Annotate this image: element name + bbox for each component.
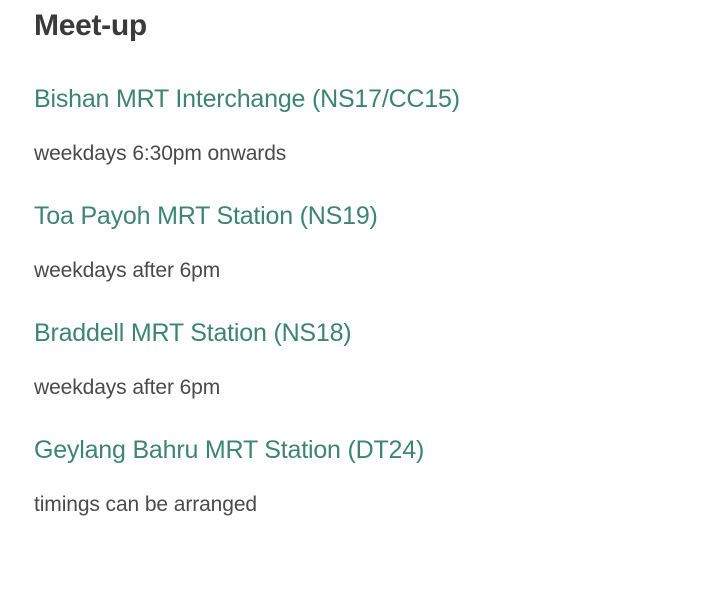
venue-timing: weekdays 6:30pm onwards — [34, 141, 675, 167]
venue-name-link[interactable]: Braddell MRT Station (NS18) — [34, 317, 675, 349]
venue-name-link[interactable]: Bishan MRT Interchange (NS17/CC15) — [34, 83, 675, 115]
venue-timing: timings can be arranged — [34, 492, 675, 518]
venue-list-item: Bishan MRT Interchange (NS17/CC15) weekd… — [34, 83, 675, 167]
venue-name-link[interactable]: Toa Payoh MRT Station (NS19) — [34, 200, 675, 232]
venue-list: Bishan MRT Interchange (NS17/CC15) weekd… — [34, 83, 675, 518]
venue-list-item: Geylang Bahru MRT Station (DT24) timings… — [34, 434, 675, 518]
venue-list-item: Braddell MRT Station (NS18) weekdays aft… — [34, 317, 675, 401]
venue-timing: weekdays after 6pm — [34, 258, 675, 284]
venue-timing: weekdays after 6pm — [34, 375, 675, 401]
page-title: Meet-up — [34, 0, 675, 46]
meetup-page: Meet-up Bishan MRT Interchange (NS17/CC1… — [0, 0, 709, 594]
venue-name-link[interactable]: Geylang Bahru MRT Station (DT24) — [34, 434, 675, 466]
venue-list-item: Toa Payoh MRT Station (NS19) weekdays af… — [34, 200, 675, 284]
